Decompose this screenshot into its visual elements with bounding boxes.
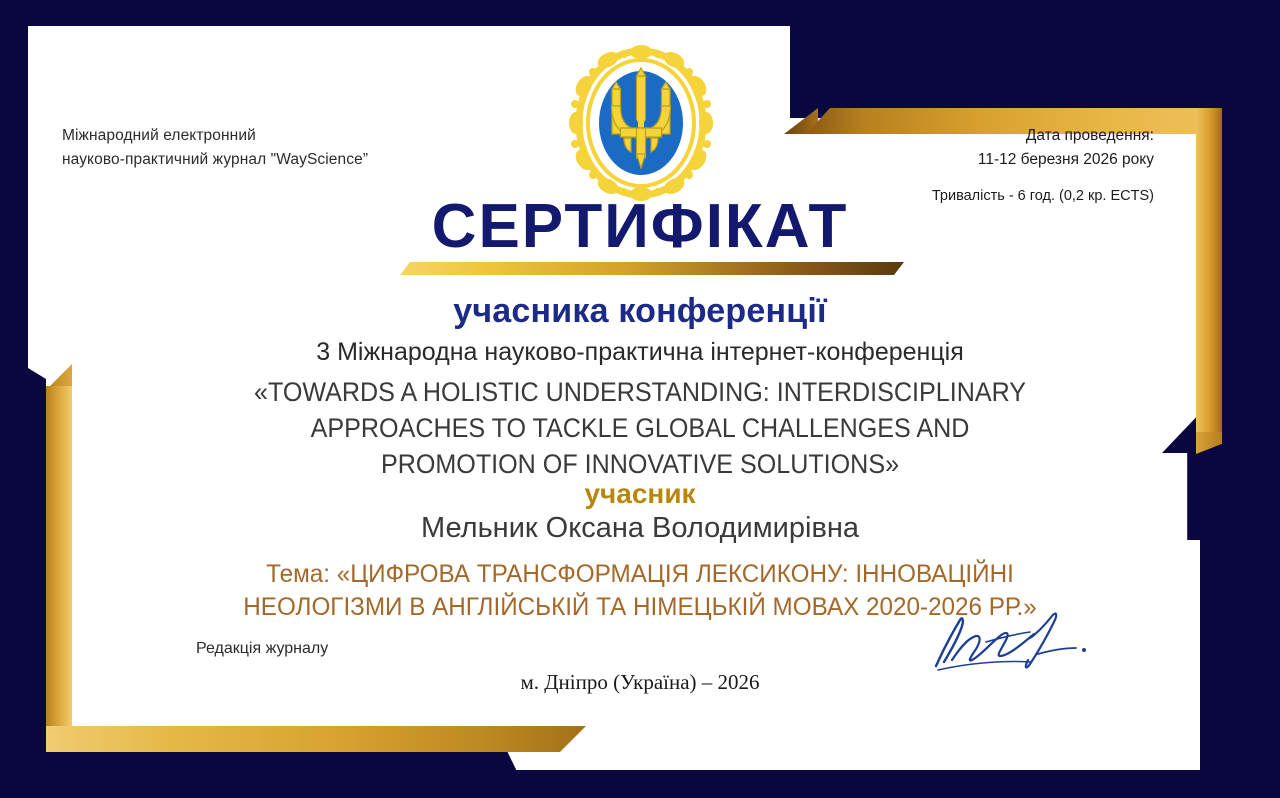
page-title: СЕРТИФІКАТ [432,196,849,258]
certificate-subtitle: учасника конференції [0,292,1280,331]
participant-name: Мельник Оксана Володимирівна [0,512,1280,545]
signature-icon [930,604,1100,680]
conference-edition-line: 3 Міжнародна науково-практична інтернет-… [0,338,1280,367]
title-gold-underbar [400,262,904,275]
event-date: Дата проведення: 11-12 березня 2026 року [978,124,1154,172]
ukraine-coat-of-arms-icon [562,42,720,204]
conference-title: «TOWARDS A HOLISTIC UNDERSTANDING: INTER… [45,374,1235,483]
navy-right-tail [1200,520,1222,798]
participant-role: учасник [0,478,1280,510]
editorial-label: Редакція журналу [196,640,328,658]
certificate: Міжнародний електронний науково-практичн… [0,0,1280,798]
journal-name: Міжнародний електронний науково-практичн… [62,124,368,172]
certificate-title-wrap: СЕРТИФІКАТ [0,196,1280,258]
gold-ribbon-bottom [46,726,586,752]
